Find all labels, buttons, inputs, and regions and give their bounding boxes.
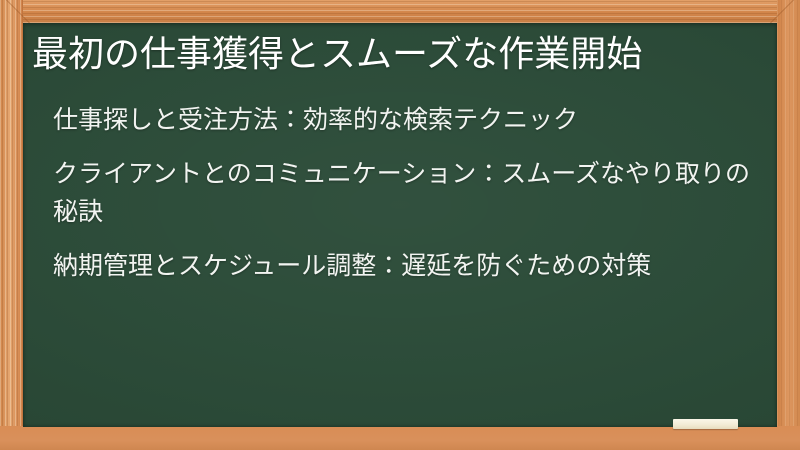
chalk-stick-icon (673, 419, 738, 429)
chalkboard-surface: 最初の仕事獲得とスムーズな作業開始 仕事探しと受注方法：効率的な検索テクニック … (23, 23, 777, 427)
bullet-item-1: 仕事探しと受注方法：効率的な検索テクニック (53, 101, 759, 139)
bullet-list: 仕事探しと受注方法：効率的な検索テクニック クライアントとのコミュニケーション：… (53, 101, 759, 285)
frame-ledge-bottom (0, 426, 800, 450)
bullet-item-3: 納期管理とスケジュール調整：遅延を防ぐための対策 (53, 247, 759, 285)
frame-rail-left (0, 0, 23, 450)
chalkboard-slide: 最初の仕事獲得とスムーズな作業開始 仕事探しと受注方法：効率的な検索テクニック … (0, 0, 800, 450)
bullet-item-2: クライアントとのコミュニケーション：スムーズなやり取りの秘訣 (53, 155, 759, 231)
frame-rail-right (777, 0, 800, 450)
chalkboard-content: 最初の仕事獲得とスムーズな作業開始 仕事探しと受注方法：効率的な検索テクニック … (23, 23, 777, 427)
frame-rail-top (0, 0, 800, 23)
slide-title: 最初の仕事獲得とスムーズな作業開始 (32, 31, 768, 77)
